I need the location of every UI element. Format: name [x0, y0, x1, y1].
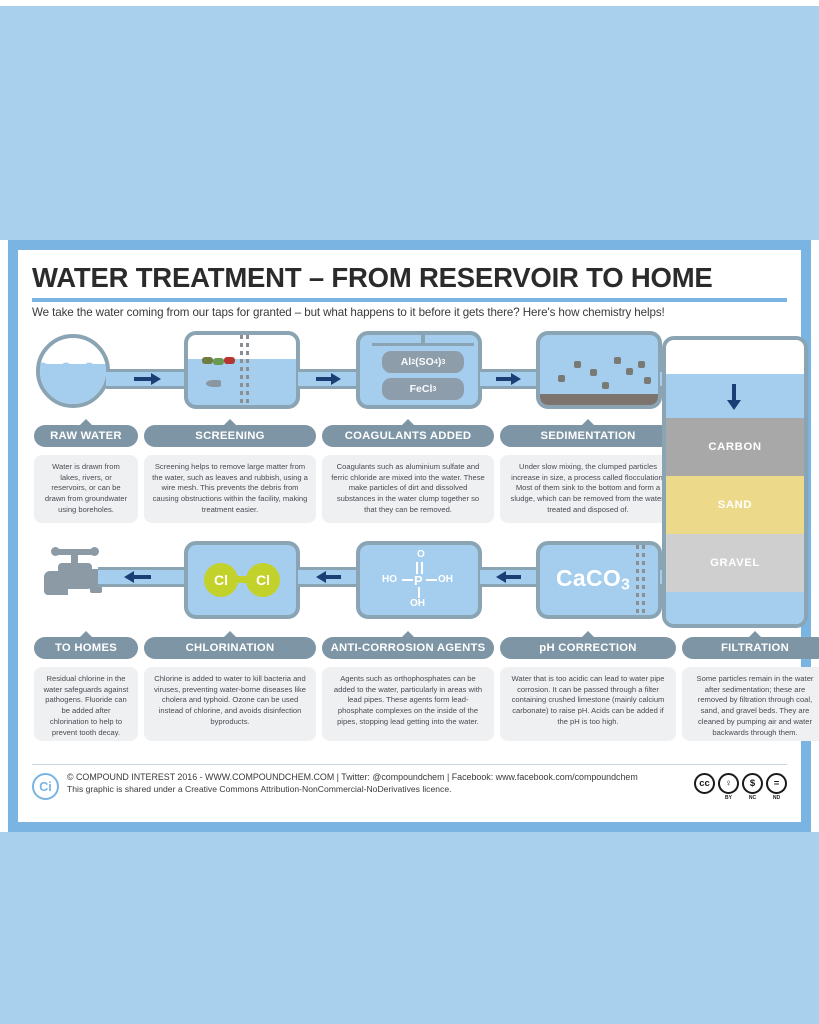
floc-particle [574, 361, 581, 368]
pill-notch [224, 631, 236, 637]
stage-label-raw-water[interactable]: RAW WATER [34, 425, 138, 447]
cc-badge-by: ♀ BY [718, 773, 739, 801]
stage-label-text: CHLORINATION [186, 642, 275, 654]
coagulant-1-so: (SO [415, 356, 434, 368]
stage-label-sedimentation[interactable]: SEDIMENTATION [500, 425, 676, 447]
coagulant-formula-1: Al2(SO4)3 [382, 351, 464, 373]
stage-description-filtration: Some particles remain in the water after… [682, 667, 819, 741]
wire-mesh-screen [240, 335, 243, 405]
cc-caption: NC [742, 795, 763, 801]
chlorine-atom-right: Cl [246, 563, 280, 597]
stage-label-chlorination[interactable]: CHLORINATION [144, 637, 316, 659]
flow-arrow-2-stem [316, 377, 332, 381]
cc-icon: cc [694, 773, 715, 794]
floc-particle [590, 369, 597, 376]
coagulant-tank: Al2(SO4)3 FeCl3 [356, 331, 482, 409]
stage-description-coagulants-added: Coagulants such as aluminium sulfate and… [322, 455, 494, 523]
sedimentation-tank [536, 331, 662, 409]
process-row-2-labels: TO HOMES CHLORINATION ANTI-CORROSION AGE… [32, 637, 787, 661]
floc-particle [644, 377, 651, 384]
water-surface-wave [37, 358, 110, 370]
coagulant-1-sub3: 3 [441, 358, 445, 366]
stage-label-to-homes[interactable]: TO HOMES [34, 637, 138, 659]
limestone-filter-mesh-2 [642, 545, 645, 615]
stage-label-filtration[interactable]: FILTRATION [682, 637, 819, 659]
stage-description-anti-corrosion-agents: Agents such as orthophosphates can be ad… [322, 667, 494, 741]
stage-description-sedimentation: Under slow mixing, the clumped particles… [500, 455, 676, 523]
page-background-bottom [0, 832, 819, 1024]
tap-handle-knob-right [90, 547, 99, 556]
coagulant-2-sub: 3 [432, 385, 436, 393]
phosphate-bottom-hydroxyl: OH [410, 598, 425, 609]
infographic-page: WATER TREATMENT – FROM RESERVOIR TO HOME… [0, 0, 819, 1024]
screening-tank [184, 331, 300, 409]
floc-particle [614, 357, 621, 364]
pill-notch [749, 631, 761, 637]
pill-notch [224, 419, 236, 425]
coagulant-formula-2: FeCl3 [382, 378, 464, 400]
floc-particle [558, 375, 565, 382]
flow-arrow-2-head [331, 373, 341, 385]
fish-icon [206, 380, 221, 387]
cc-caption: ND [766, 795, 787, 801]
limestone-formula-sub: 3 [621, 576, 630, 593]
debris-leaf-1 [202, 357, 213, 364]
page-background-top [0, 0, 819, 240]
stage-label-text: RAW WATER [50, 430, 122, 442]
process-row-2-descriptions: Residual chlorine in the water safeguard… [32, 667, 787, 741]
chlorination-tank: Cl Cl [184, 541, 300, 619]
limestone-formula-main: CaCO [556, 565, 621, 591]
anti-corrosion-tank: O HO P OH OH [356, 541, 482, 619]
pill-notch [80, 631, 92, 637]
phosphate-bond-left [402, 579, 413, 581]
flow-arrow-6-stem [325, 575, 341, 579]
phosphate-left-hydroxyl: HO [382, 574, 397, 585]
stage-label-coagulants-added[interactable]: COAGULANTS ADDED [322, 425, 494, 447]
stage-description-ph-correction: Water that is too acidic can lead to wat… [500, 667, 676, 741]
floc-particle [602, 382, 609, 389]
stage-description-raw-water: Water is drawn from lakes, rivers, or re… [34, 455, 138, 523]
flow-arrow-3-head [511, 373, 521, 385]
stage-label-anti-corrosion-agents[interactable]: ANTI-CORROSION AGENTS [322, 637, 494, 659]
debris-leaf-2 [213, 358, 224, 365]
stage-label-ph-correction[interactable]: pH CORRECTION [500, 637, 676, 659]
tower-outlet-water [666, 592, 804, 628]
phosphate-right-hydroxyl: OH [438, 574, 453, 585]
cc-nd-icon: = [766, 773, 787, 794]
filter-layer-gravel: GRAVEL [666, 534, 804, 592]
pill-notch [582, 419, 594, 425]
flow-arrow-5-stem [133, 575, 151, 579]
tap-handle-knob-left [51, 547, 60, 556]
flow-arrow-1-stem [134, 377, 152, 381]
cc-nc-icon: $ [742, 773, 763, 794]
copyright-line: © COMPOUND INTEREST 2016 - WWW.COMPOUNDC… [67, 772, 694, 782]
pill-notch [80, 419, 92, 425]
floc-particle [638, 361, 645, 368]
cc-badge-nd: = ND [766, 773, 787, 801]
coagulant-2-fecl: FeCl [410, 383, 433, 395]
reservoir-water [40, 364, 106, 404]
title-divider [32, 298, 787, 302]
licence-line: This graphic is shared under a Creative … [67, 784, 694, 794]
stage-label-text: FILTRATION [721, 642, 789, 654]
reservoir-icon [36, 334, 110, 408]
phosphate-bond-right [426, 579, 437, 581]
cc-badge-cc: cc [694, 773, 715, 801]
stage-label-screening[interactable]: SCREENING [144, 425, 316, 447]
creative-commons-icons: cc ♀ BY $ NC = ND [694, 773, 787, 801]
phosphate-top-oxygen: O [417, 549, 425, 560]
coagulant-1-al: Al [401, 356, 412, 368]
limestone-filter-mesh-1 [636, 545, 639, 615]
cc-caption: BY [718, 795, 739, 801]
tower-down-arrow-head [727, 400, 741, 410]
phosphate-center-atom: P [414, 573, 423, 588]
stage-label-text: pH CORRECTION [539, 642, 636, 654]
flow-arrow-1-head [151, 373, 161, 385]
debris-leaf-3 [224, 357, 235, 364]
stage-label-text: SEDIMENTATION [540, 430, 635, 442]
stage-label-text: TO HOMES [55, 642, 117, 654]
cc-by-icon: ♀ [718, 773, 739, 794]
stage-label-text: SCREENING [195, 430, 264, 442]
flow-arrow-3-stem [496, 377, 512, 381]
stage-label-text: ANTI-CORROSION AGENTS [331, 642, 486, 654]
footer-text-block: © COMPOUND INTEREST 2016 - WWW.COMPOUNDC… [67, 772, 694, 794]
sludge-layer [540, 394, 658, 405]
filter-layer-sand: SAND [666, 476, 804, 534]
stage-description-to-homes: Residual chlorine in the water safeguard… [34, 667, 138, 741]
wire-mesh-screen-2 [246, 335, 249, 405]
phosphate-bond-bottom [418, 587, 420, 598]
pill-notch [582, 631, 594, 637]
pill-notch [402, 631, 414, 637]
filter-layer-carbon: CARBON [666, 418, 804, 476]
stage-description-screening: Screening helps to remove large matter f… [144, 455, 316, 523]
flow-arrow-7-stem [505, 575, 521, 579]
compound-interest-logo: Ci [32, 773, 59, 800]
cc-badge-nc: $ NC [742, 773, 763, 801]
page-subtitle: We take the water coming from our taps f… [32, 306, 787, 319]
ph-correction-tank: CaCO3 [536, 541, 662, 619]
floc-particle [626, 368, 633, 375]
page-title: WATER TREATMENT – FROM RESERVOIR TO HOME [32, 264, 787, 293]
stage-label-text: COAGULANTS ADDED [345, 430, 472, 442]
page-top-white-strip [0, 0, 819, 6]
coagulant-dosing-stem [421, 335, 425, 345]
chlorine-atom-left: Cl [204, 563, 238, 597]
limestone-formula: CaCO3 [556, 565, 630, 594]
pill-notch [402, 419, 414, 425]
filtration-tower: CARBON SAND GRAVEL [662, 336, 808, 628]
stage-description-chlorination: Chlorine is added to water to kill bacte… [144, 667, 316, 741]
tower-headspace [666, 340, 804, 374]
footer: Ci © COMPOUND INTEREST 2016 - WWW.COMPOU… [32, 764, 787, 808]
